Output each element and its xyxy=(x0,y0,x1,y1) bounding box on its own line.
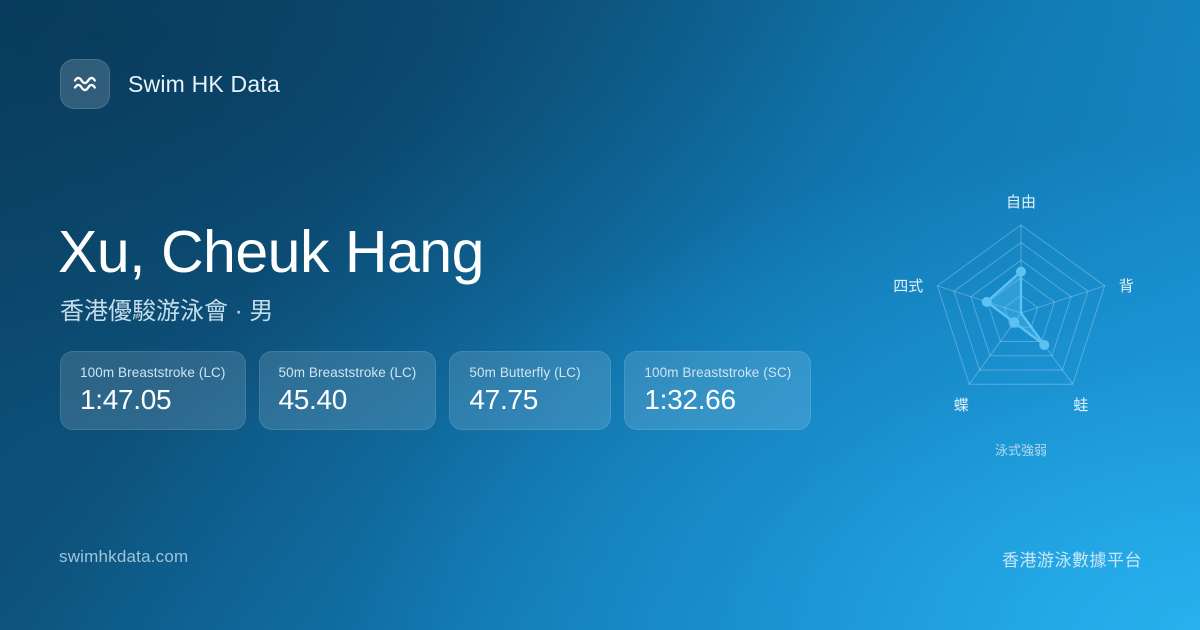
brand-name: Swim HK Data xyxy=(128,71,280,98)
footer-site-url[interactable]: swimhkdata.com xyxy=(59,547,188,567)
radar-axis-line xyxy=(1021,286,1105,313)
radar-data-point xyxy=(982,297,992,307)
chart-caption: 泳式強弱 xyxy=(995,443,1047,458)
list-item[interactable]: 50m Butterfly (LC) 47.75 xyxy=(449,351,611,430)
footer-tagline: 香港游泳數據平台 xyxy=(1002,546,1142,571)
event-time: 45.40 xyxy=(279,384,417,416)
event-time: 47.75 xyxy=(469,384,591,416)
radar-data-point xyxy=(1039,340,1049,350)
event-label: 100m Breaststroke (SC) xyxy=(644,365,791,380)
radar-data-point xyxy=(1009,317,1019,327)
event-time: 1:32.66 xyxy=(644,384,791,416)
event-label: 50m Breaststroke (LC) xyxy=(279,365,417,380)
radar-axis-label: 自由 xyxy=(1006,194,1036,211)
radar-axis-label: 四式 xyxy=(893,278,923,295)
social-share-card: Swim HK Data Xu, Cheuk Hang 香港優駿游泳會 · 男 … xyxy=(0,0,1200,630)
radar-axis-label: 蛙 xyxy=(1073,397,1088,414)
stroke-strength-radar-chart: 自由背蛙蝶四式 泳式強弱 xyxy=(876,168,1166,468)
best-times-list: 100m Breaststroke (LC) 1:47.05 50m Breas… xyxy=(60,351,811,430)
radar-axis-label: 蝶 xyxy=(954,397,969,414)
radar-data-point xyxy=(1016,267,1026,277)
page-title: Xu, Cheuk Hang xyxy=(58,222,484,284)
list-item[interactable]: 100m Breaststroke (SC) 1:32.66 xyxy=(624,351,811,430)
event-label: 50m Butterfly (LC) xyxy=(469,365,591,380)
list-item[interactable]: 50m Breaststroke (LC) 45.40 xyxy=(259,351,437,430)
list-item[interactable]: 100m Breaststroke (LC) 1:47.05 xyxy=(60,351,246,430)
brand-header[interactable]: Swim HK Data xyxy=(60,59,280,109)
app-logo xyxy=(60,59,110,109)
event-time: 1:47.05 xyxy=(80,384,226,416)
athlete-meta: 香港優駿游泳會 · 男 xyxy=(60,296,273,327)
radar-axis-label: 背 xyxy=(1119,278,1134,295)
wave-icon xyxy=(71,70,99,98)
event-label: 100m Breaststroke (LC) xyxy=(80,365,226,380)
